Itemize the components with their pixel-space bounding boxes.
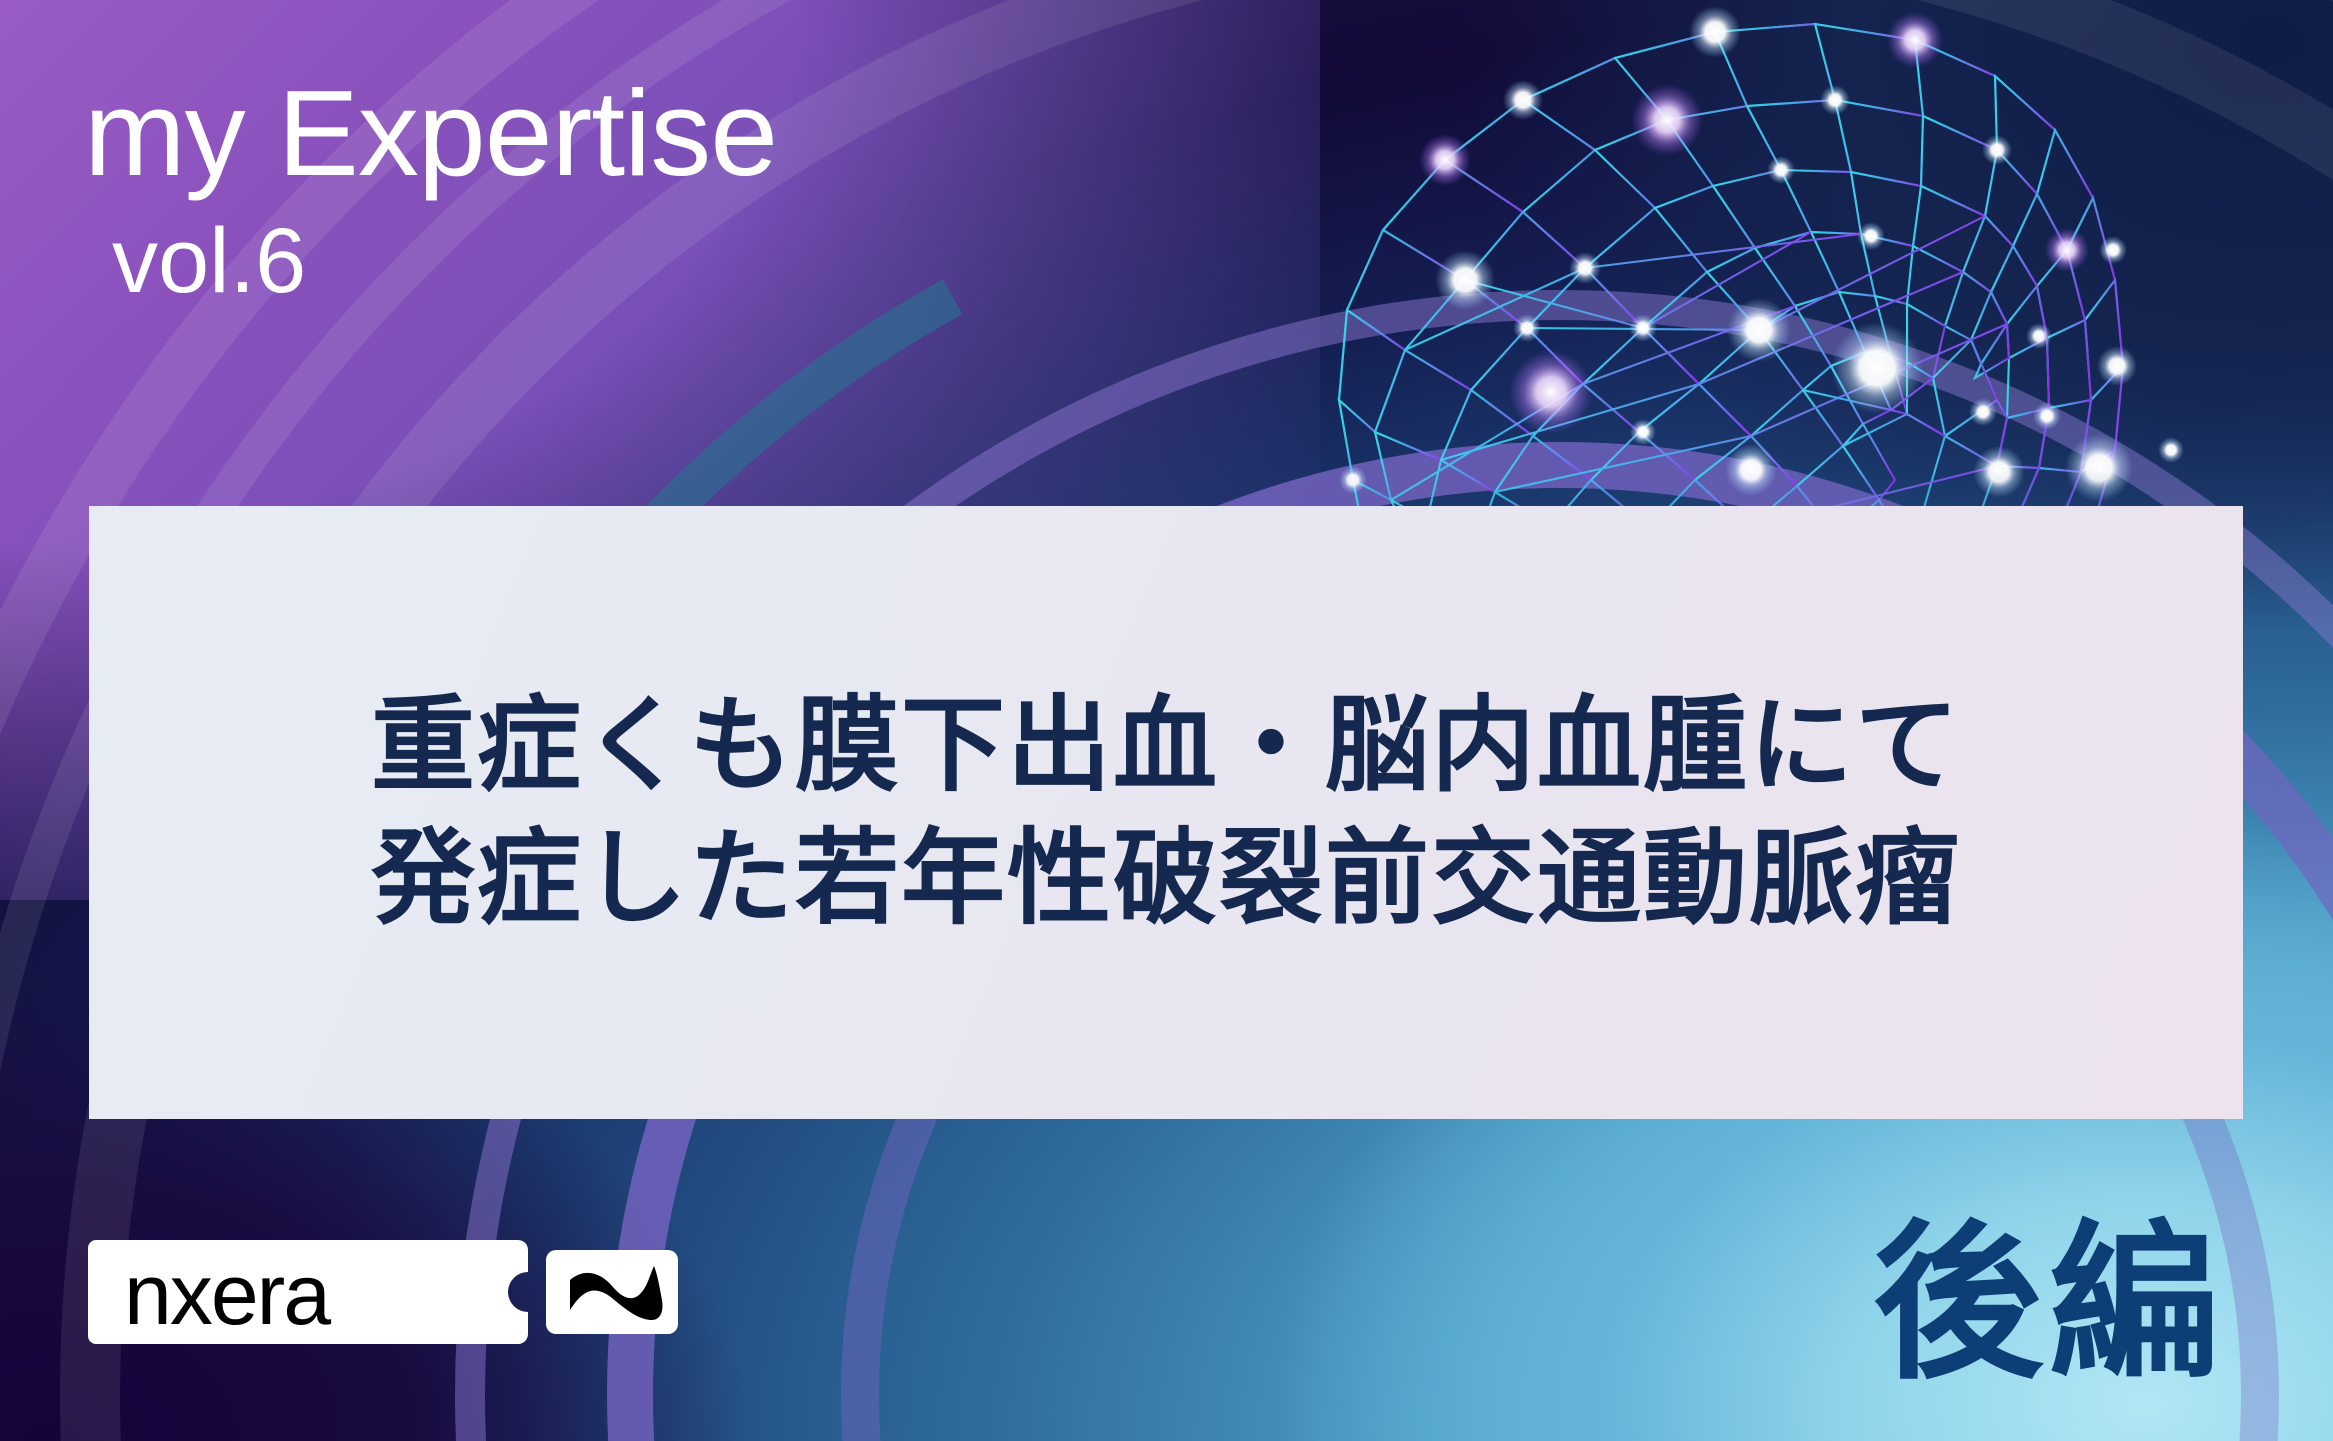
nxera-logo: nxera [88, 1232, 788, 1352]
volume-label: vol.6 [112, 215, 306, 307]
article-title: 重症くも膜下出血・脳内血腫にて 発症した若年性破裂前交通動脈瘤 [166, 679, 2166, 945]
page-title: my Expertise [84, 72, 777, 194]
nxera-wordmark: nxera [124, 1247, 331, 1343]
title-panel: 重症くも膜下出血・脳内血腫にて 発症した若年性破裂前交通動脈瘤 [89, 506, 2243, 1119]
poster-canvas: my Expertise vol.6 重症くも膜下出血・脳内血腫にて 発症した若… [0, 0, 2333, 1441]
status-badge: 後編 [1873, 1219, 2225, 1389]
